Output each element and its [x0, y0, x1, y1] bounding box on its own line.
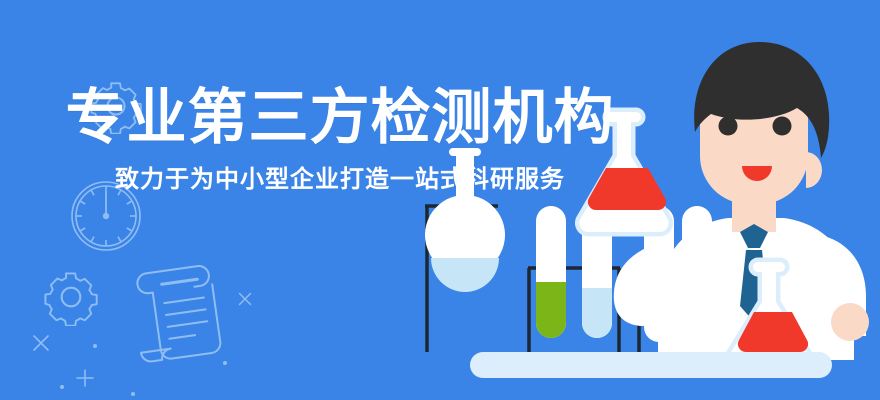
left-arm: [614, 240, 676, 326]
sparkle-icon: [30, 332, 52, 354]
page-subtitle: 致力于为中小型企业打造一站式科研服务: [0, 167, 680, 193]
ear: [806, 152, 822, 188]
sparkle-icon: [75, 368, 95, 388]
gear-outline-icon: [42, 268, 100, 326]
head: [694, 42, 829, 204]
dot-icon: [59, 377, 65, 395]
eye-left: [719, 117, 738, 136]
promo-banner: 专业第三方检测机构 致力于为中小型企业打造一站式科研服务: [0, 0, 880, 400]
dot-icon: [222, 353, 228, 371]
dot-icon: [130, 384, 136, 400]
lab-scientist-illustration: [410, 0, 880, 400]
scroll-document-outline-icon: [128, 255, 232, 373]
headline-block: 专业第三方检测机构 致力于为中小型企业打造一站式科研服务: [0, 86, 680, 193]
sparkle-icon: [236, 290, 254, 308]
dot-icon: [92, 336, 98, 354]
test-tube-green: [536, 206, 566, 338]
right-hand: [831, 303, 869, 341]
eye-right: [773, 117, 792, 136]
page-title: 专业第三方检测机构: [0, 86, 680, 149]
lab-counter-bar: [470, 352, 832, 378]
